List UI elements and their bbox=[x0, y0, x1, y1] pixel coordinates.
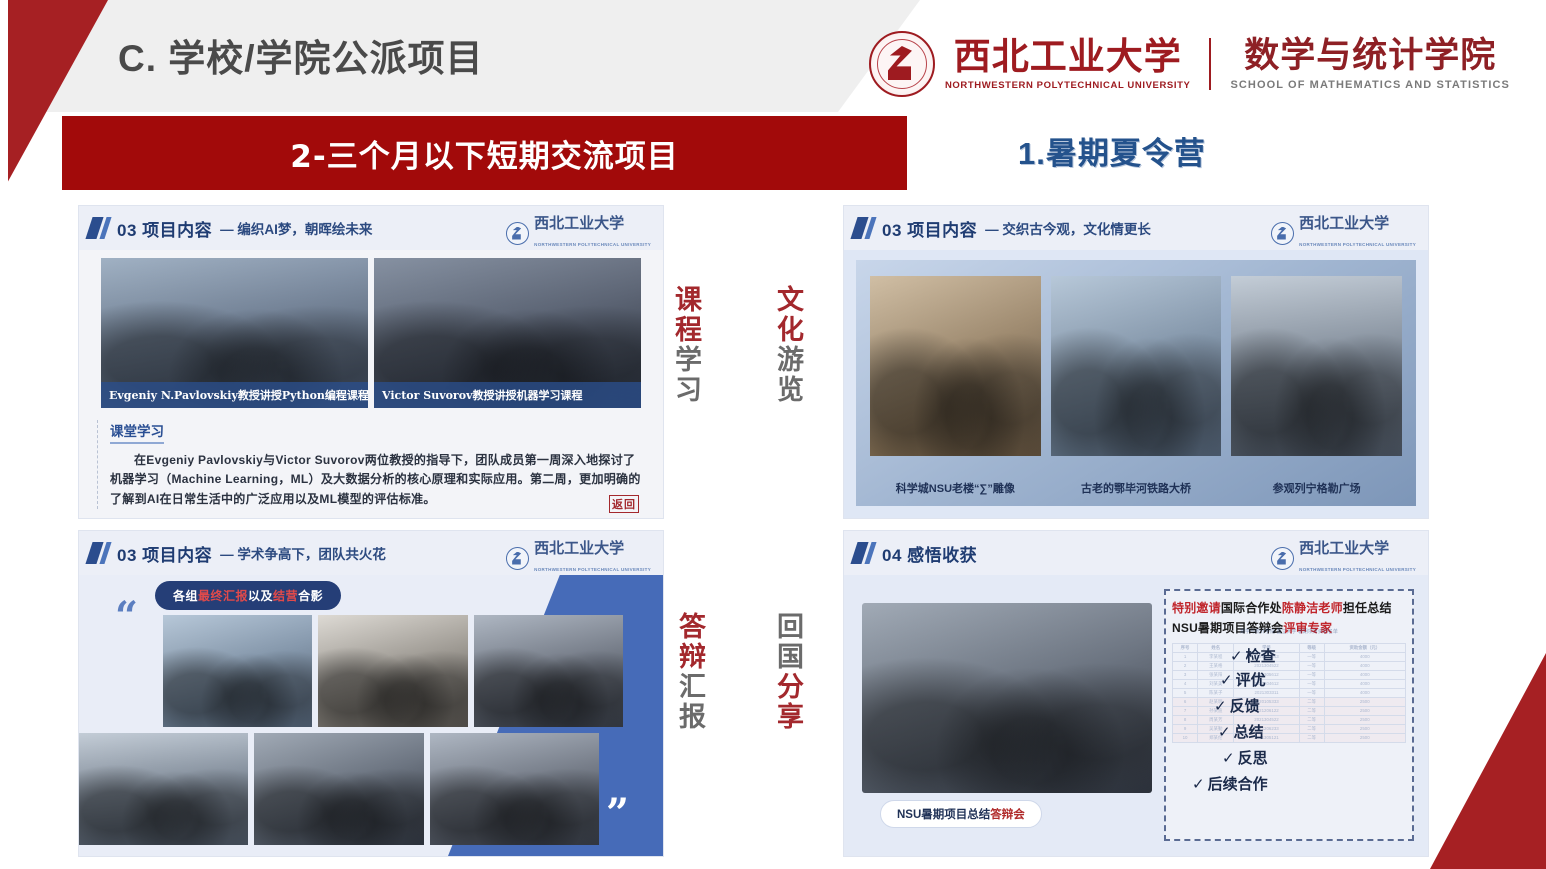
pill-highlight-2: 结营 bbox=[273, 589, 298, 603]
card3-photo-panel: 科学城NSU老楼“∑”雕像 古老的鄂毕河铁路大桥 参观列宁格勒广场 bbox=[856, 260, 1416, 506]
card2-caption-pill: 各组最终汇报以及结营合影 bbox=[155, 581, 341, 610]
card1-logo: 西北工业大学 NORTHWESTERN POLYTECHNICAL UNIVER… bbox=[506, 215, 651, 251]
photo-presentation-4 bbox=[254, 733, 423, 845]
photo-nsu-sigma-statue bbox=[870, 276, 1041, 456]
card3-body: 科学城NSU老楼“∑”雕像 古老的鄂毕河铁路大桥 参观列宁格勒广场 bbox=[844, 250, 1428, 518]
photo-presentation-2 bbox=[474, 615, 623, 727]
section-marker-icon bbox=[85, 217, 111, 239]
photo-ob-river-bridge bbox=[1051, 276, 1222, 456]
checklist-overlay: ✓检查✓评优✓反馈✓总结✓反思✓后续合作 bbox=[1172, 643, 1406, 833]
photo-defense-meeting bbox=[862, 603, 1152, 793]
vlabel-gray: 学习 bbox=[670, 345, 701, 405]
vertical-label-defense-report: 答辩汇报 bbox=[672, 612, 705, 732]
vertical-label-culture-tour: 文化游览 bbox=[770, 285, 803, 405]
checklist-item-label: 评优 bbox=[1236, 672, 1266, 689]
university-name-block: 西北工业大学 NORTHWESTERN POLYTECHNICAL UNIVER… bbox=[945, 38, 1190, 91]
table-title: 数学与统计学院 国立大学 暑期项目资助名单 bbox=[1172, 629, 1406, 636]
photo-caption: Victor Suvorov教授讲授机器学习课程 bbox=[374, 382, 641, 408]
card2-photo-row-1 bbox=[163, 615, 623, 727]
vlabel-red: 答辩 bbox=[674, 612, 705, 672]
card4-body: NSU暑期项目总结答辩会 特别邀请国际合作处陈静洁老师担任总结NSU暑期项目答辩… bbox=[844, 575, 1428, 856]
corner-decoration-bottom-right bbox=[1426, 653, 1546, 869]
card1-logo-text: 西北工业大学 NORTHWESTERN POLYTECHNICAL UNIVER… bbox=[534, 215, 651, 251]
banner-summer-camp-label: 1.暑期夏令营 bbox=[1018, 128, 1206, 173]
card4-logo-text: 西北工业大学 NORTHWESTERN POLYTECHNICAL UNIVER… bbox=[1299, 540, 1416, 576]
university-seal-icon bbox=[1271, 222, 1294, 245]
banner-short-term-program: 2-三个月以下短期交流项目 bbox=[62, 116, 907, 190]
vlabel-gray: 回国 bbox=[772, 612, 803, 672]
back-button[interactable]: 返回 bbox=[609, 495, 639, 513]
photo-caption: Evgeniy N.Pavlovskiy教授讲授Python编程课程 bbox=[101, 382, 368, 408]
checklist-item: ✓检查 bbox=[1230, 645, 1276, 666]
vlabel-red: 课程 bbox=[670, 285, 701, 345]
checklist-item: ✓总结 bbox=[1218, 721, 1264, 742]
card3-title: 03 项目内容 bbox=[882, 216, 977, 241]
card2-title: 03 项目内容 bbox=[117, 541, 212, 566]
checklist-item-label: 反馈 bbox=[1230, 698, 1260, 715]
vlabel-gray: 汇报 bbox=[674, 672, 705, 732]
card1-header: 03 项目内容 — 编织AI梦，朝晖绘未来 西北工业大学 NORTHWESTER… bbox=[79, 206, 663, 250]
card-program-content-ai[interactable]: 03 项目内容 — 编织AI梦，朝晖绘未来 西北工业大学 NORTHWESTER… bbox=[78, 205, 664, 519]
card1-title: 03 项目内容 bbox=[117, 216, 212, 241]
card3-logo-text: 西北工业大学 NORTHWESTERN POLYTECHNICAL UNIVER… bbox=[1299, 215, 1416, 251]
card1-body: Evgeniy N.Pavlovskiy教授讲授Python编程课程 Victo… bbox=[79, 250, 663, 518]
card1-note-block: 课堂学习 在Evgeniy Pavlovskiy与Victor Suvorov两… bbox=[97, 420, 645, 509]
card4-title: 04 感悟收获 bbox=[882, 541, 977, 566]
card3-photo-row bbox=[870, 276, 1402, 456]
section-marker-icon bbox=[850, 542, 876, 564]
pill-highlight: 答辩会 bbox=[990, 809, 1025, 821]
card1-photo-row: Evgeniy N.Pavlovskiy教授讲授Python编程课程 Victo… bbox=[101, 258, 641, 408]
logo-divider bbox=[1209, 38, 1211, 90]
pill-text-3: 合影 bbox=[298, 589, 323, 603]
card2-photo-row-2 bbox=[79, 733, 599, 845]
card3-subtitle: — 交织古今观，文化情更长 bbox=[985, 218, 1151, 238]
note-body: 在Evgeniy Pavlovskiy与Victor Suvorov两位教授的指… bbox=[110, 451, 645, 509]
checklist-item-label: 反思 bbox=[1238, 750, 1268, 767]
vertical-label-return-share: 回国分享 bbox=[770, 612, 803, 732]
card2-header: 03 项目内容 — 学术争高下，团队共火花 西北工业大学 NORTHWESTER… bbox=[79, 531, 663, 575]
card2-body: “ 各组最终汇报以及结营合影 ” bbox=[79, 575, 663, 856]
photo-caption: 古老的鄂毕河铁路大桥 bbox=[1051, 480, 1222, 496]
highlight-text-1: 国际合作处 bbox=[1221, 601, 1282, 615]
card3-header: 03 项目内容 — 交织古今观，文化情更长 西北工业大学 NORTHWESTER… bbox=[844, 206, 1428, 250]
card2-logo-text: 西北工业大学 NORTHWESTERN POLYTECHNICAL UNIVER… bbox=[534, 540, 651, 576]
university-seal-icon bbox=[869, 31, 935, 97]
photo-caption: 参观列宁格勒广场 bbox=[1231, 480, 1402, 496]
university-seal-icon bbox=[506, 222, 529, 245]
checklist-item-label: 后续合作 bbox=[1208, 776, 1268, 793]
section-marker-icon bbox=[850, 217, 876, 239]
card2-logo: 西北工业大学 NORTHWESTERN POLYTECHNICAL UNIVER… bbox=[506, 540, 651, 576]
photo-group-photo bbox=[163, 615, 312, 727]
pill-highlight-1: 最终汇报 bbox=[198, 589, 248, 603]
photo-presentation-1 bbox=[318, 615, 467, 727]
card4-caption-pill: NSU暑期项目总结答辩会 bbox=[880, 800, 1042, 828]
card3-caption-row: 科学城NSU老楼“∑”雕像 古老的鄂毕河铁路大桥 参观列宁格勒广场 bbox=[870, 480, 1402, 496]
checklist-item: ✓反思 bbox=[1222, 747, 1268, 768]
photo-presentation-5 bbox=[430, 733, 599, 845]
card4-table-wrap: 数学与统计学院 国立大学 暑期项目资助名单 序号姓名学号等级资助金额（元） 1李… bbox=[1172, 643, 1406, 833]
school-name-cn: 数学与统计学院 bbox=[1244, 38, 1496, 73]
highlight-em-2: 陈静洁老师 bbox=[1282, 601, 1343, 615]
vertical-label-course-study: 课程学习 bbox=[668, 285, 701, 405]
checklist-item-label: 总结 bbox=[1234, 724, 1264, 741]
photo-caption: 科学城NSU老楼“∑”雕像 bbox=[870, 480, 1041, 496]
school-name-block: 数学与统计学院 SCHOOL OF MATHEMATICS AND STATIS… bbox=[1230, 38, 1510, 91]
checklist-item: ✓后续合作 bbox=[1192, 773, 1268, 794]
photo-lecture-python: Evgeniy N.Pavlovskiy教授讲授Python编程课程 bbox=[101, 258, 368, 408]
photo-lenin-square bbox=[1231, 276, 1402, 456]
card-program-content-culture[interactable]: 03 项目内容 — 交织古今观，文化情更长 西北工业大学 NORTHWESTER… bbox=[843, 205, 1429, 519]
quote-close-icon: ” bbox=[606, 794, 629, 834]
pill-text-1: 各组 bbox=[173, 589, 198, 603]
pill-text: NSU暑期项目总结 bbox=[897, 809, 990, 821]
vlabel-gray: 游览 bbox=[772, 345, 803, 405]
card-program-content-defense[interactable]: 03 项目内容 — 学术争高下，团队共火花 西北工业大学 NORTHWESTER… bbox=[78, 530, 664, 857]
card2-subtitle: — 学术争高下，团队共火花 bbox=[220, 543, 386, 563]
banner-left-label: 2-三个月以下短期交流项目 bbox=[290, 131, 678, 176]
university-logo: 西北工业大学 NORTHWESTERN POLYTECHNICAL UNIVER… bbox=[869, 24, 1510, 104]
card3-logo: 西北工业大学 NORTHWESTERN POLYTECHNICAL UNIVER… bbox=[1271, 215, 1416, 251]
left-edge-strip bbox=[0, 0, 8, 869]
card-reflections-gains[interactable]: 04 感悟收获 西北工业大学 NORTHWESTERN POLYTECHNICA… bbox=[843, 530, 1429, 857]
section-marker-icon bbox=[85, 542, 111, 564]
university-seal-icon bbox=[506, 547, 529, 570]
pill-text-2: 以及 bbox=[248, 589, 273, 603]
card4-header: 04 感悟收获 西北工业大学 NORTHWESTERN POLYTECHNICA… bbox=[844, 531, 1428, 575]
card4-logo: 西北工业大学 NORTHWESTERN POLYTECHNICAL UNIVER… bbox=[1271, 540, 1416, 576]
university-name-en: NORTHWESTERN POLYTECHNICAL UNIVERSITY bbox=[945, 80, 1190, 91]
university-name-cn: 西北工业大学 bbox=[954, 38, 1182, 75]
school-name-en: SCHOOL OF MATHEMATICS AND STATISTICS bbox=[1230, 79, 1510, 91]
university-seal-icon bbox=[1271, 547, 1294, 570]
checklist-item: ✓反馈 bbox=[1214, 695, 1260, 716]
page-title: C. 学校/学院公派项目 bbox=[118, 28, 484, 82]
checklist-item-label: 检查 bbox=[1246, 648, 1276, 665]
vlabel-red: 分享 bbox=[772, 672, 803, 732]
checklist-item: ✓评优 bbox=[1220, 669, 1266, 690]
photo-lecture-ml: Victor Suvorov教授讲授机器学习课程 bbox=[374, 258, 641, 408]
photo-presentation-3 bbox=[79, 733, 248, 845]
card4-highlight-panel: 特别邀请国际合作处陈静洁老师担任总结NSU暑期项目答辩会评审专家 数学与统计学院… bbox=[1164, 589, 1414, 841]
note-title: 课堂学习 bbox=[110, 420, 164, 444]
highlight-em-1: 特别邀请 bbox=[1172, 601, 1221, 615]
quote-open-icon: “ bbox=[115, 597, 138, 637]
card1-subtitle: — 编织AI梦，朝晖绘未来 bbox=[220, 218, 372, 238]
vlabel-red: 文化 bbox=[772, 285, 803, 345]
